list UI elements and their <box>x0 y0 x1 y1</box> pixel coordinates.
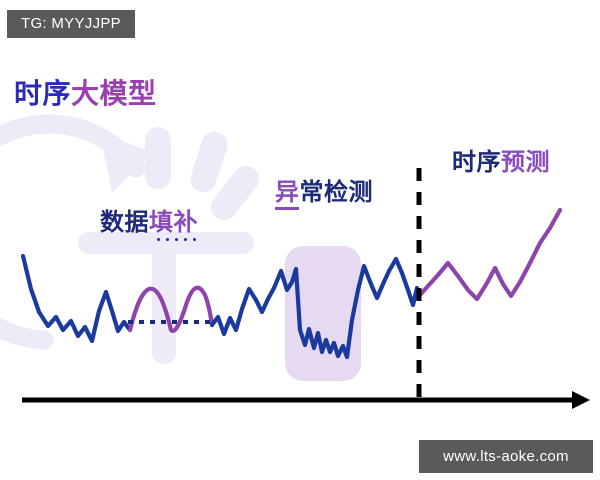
infographic-canvas: TG: MYYJJPP 时序大模型 数据填补 异常检测 时序预测 www.lts… <box>0 0 600 480</box>
label-time-series-forecast: 时序预测 <box>452 142 550 177</box>
page-title-part2: 大模型 <box>71 78 157 109</box>
label-impute-part1: 数据 <box>100 209 149 236</box>
page-title-part1: 时序 <box>14 78 71 109</box>
telegram-watermark-text: TG: MYYJJPP <box>21 15 121 32</box>
forecast-line <box>419 210 560 299</box>
label-forecast-part2: 预测 <box>501 149 550 176</box>
label-anomaly-part1: 异 <box>275 179 300 206</box>
label-data-imputation: 数据填补 <box>100 202 198 237</box>
site-watermark-text: www.lts-aoke.com <box>443 448 569 465</box>
label-anomaly-solid-underline <box>275 207 299 210</box>
label-impute-part2: 填补 <box>149 209 198 236</box>
label-forecast-part1: 时序 <box>452 149 501 176</box>
telegram-watermark-badge: TG: MYYJJPP <box>7 10 135 38</box>
site-watermark-badge: www.lts-aoke.com <box>419 440 593 473</box>
label-anomaly-part2: 常检测 <box>300 179 374 206</box>
page-title: 时序大模型 <box>14 72 157 112</box>
label-anomaly-detection: 异常检测 <box>275 172 373 207</box>
anomaly-highlight-box <box>285 246 361 381</box>
history-line-left <box>23 256 130 341</box>
imputed-line <box>130 288 212 331</box>
x-axis-arrowhead <box>572 391 590 409</box>
label-impute-dotted-underline <box>154 238 202 241</box>
